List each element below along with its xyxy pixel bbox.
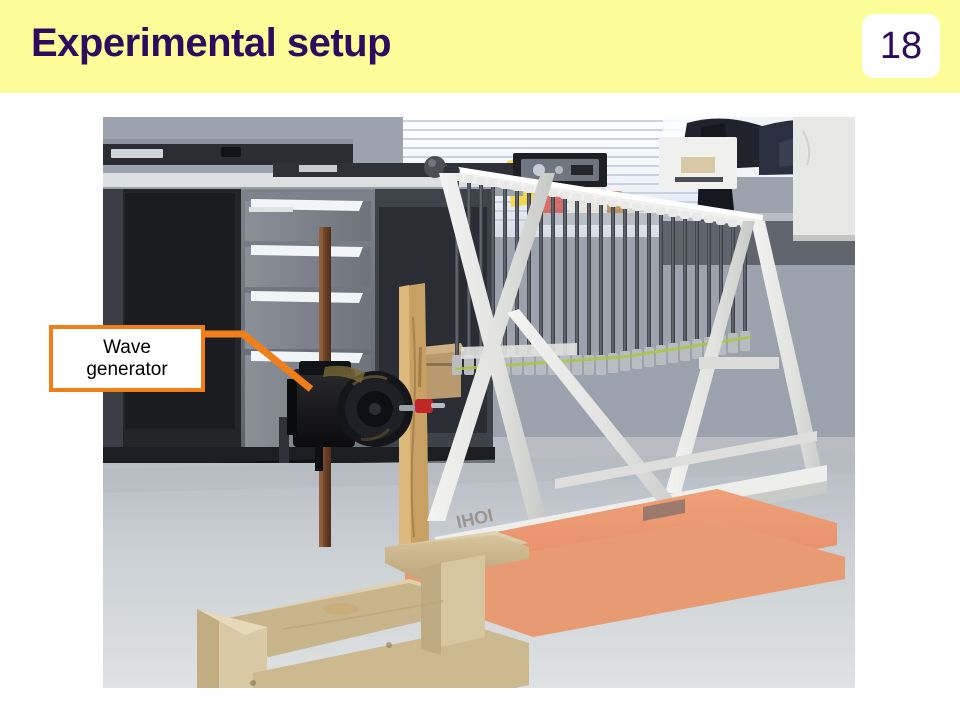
presentation-slide: Experimental setup 18 bbox=[0, 0, 960, 720]
slide-number-text: 18 bbox=[862, 14, 940, 78]
wave-generator-callout: Wave generator bbox=[49, 325, 205, 392]
callout-label-line2: generator bbox=[86, 359, 167, 381]
page-title: Experimental setup bbox=[31, 21, 391, 66]
callout-label-line1: Wave bbox=[103, 337, 151, 359]
photo-scene: IOHI bbox=[103, 117, 855, 688]
slide-number-badge: 18 bbox=[862, 14, 940, 78]
experiment-photograph: IOHI bbox=[103, 117, 855, 688]
